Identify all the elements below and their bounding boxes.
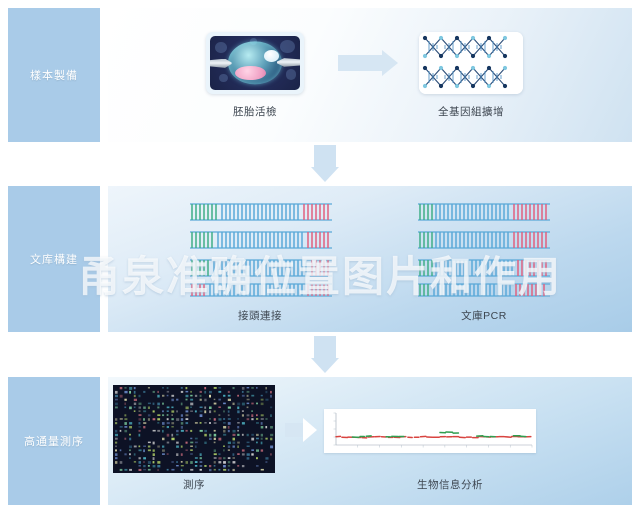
stage-label-high-throughput-sequencing: 高通量測序 — [8, 377, 100, 505]
panel-embryo-biopsy — [206, 32, 304, 94]
panel-whole-genome-amplification — [419, 32, 523, 94]
caption-sequencing: 測序 — [113, 477, 275, 492]
stage-row-sample-preparation: 樣本製備 胚胎活檢 — [0, 8, 640, 142]
stage-label-library-construction: 文库構建 — [8, 186, 100, 332]
stage-row-high-throughput-sequencing: 高通量測序 測序 生物信 — [0, 377, 640, 505]
dna-double-helix-illustration — [419, 32, 523, 94]
workflow-diagram: 樣本製備 胚胎活檢 — [0, 0, 640, 513]
caption-embryo-biopsy: 胚胎活檢 — [206, 104, 304, 119]
embryo-biopsy-illustration — [210, 36, 300, 90]
row1-background — [108, 8, 632, 142]
caption-bioinformatics-analysis: 生物信息分析 — [370, 477, 530, 492]
stage-label-text: 樣本製備 — [30, 67, 78, 83]
cnv-copy-number-plot — [324, 409, 536, 453]
stage-row-library-construction: 文库構建 — [0, 186, 640, 332]
stage-label-text: 高通量測序 — [24, 433, 84, 449]
caption-whole-genome-amplification: 全基因組擴增 — [419, 104, 523, 119]
sequencing-flowcell-image — [113, 385, 275, 473]
caption-adapter-ligation: 接頭連接 — [200, 308, 320, 323]
caption-library-pcr: 文庫PCR — [424, 308, 544, 323]
dna-fragment-ladder-ligation — [180, 200, 340, 300]
stage-label-text: 文库構建 — [30, 251, 78, 267]
stage-label-sample-preparation: 樣本製備 — [8, 8, 100, 142]
dna-fragment-ladder-pcr — [408, 200, 568, 300]
